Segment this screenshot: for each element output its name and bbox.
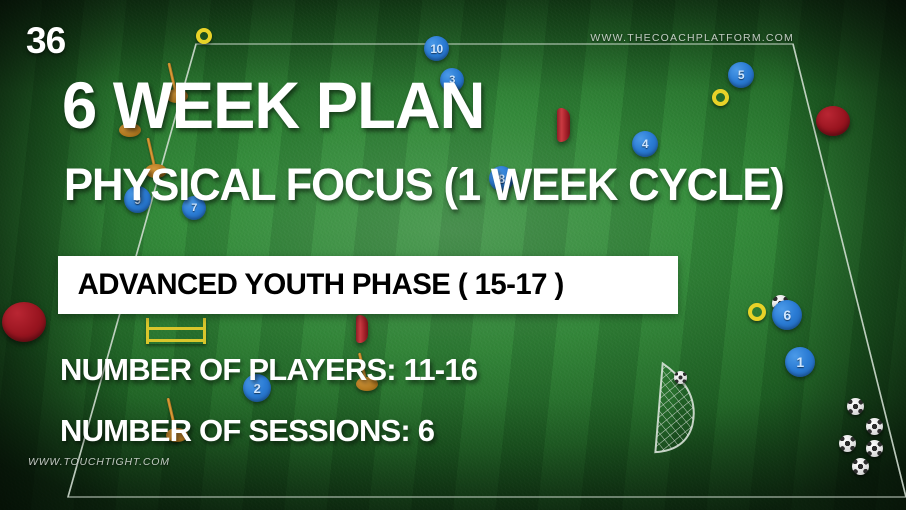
soccer-ball [839,435,856,452]
training-mannequin [557,108,570,142]
player-marker-number: 10 [430,42,442,56]
slide-subheadline: PHYSICAL FOCUS (1 WEEK CYCLE) [64,162,784,207]
player-marker-disc: 5 [728,62,754,88]
number-of-sessions-line: NUMBER OF SESSIONS: 6 [60,413,434,449]
number-of-players-line: NUMBER OF PLAYERS: 11-16 [60,352,477,388]
flat-ring-marker [748,303,766,321]
flat-ring-marker [196,28,212,44]
player-marker-disc: 6 [772,300,802,330]
phase-banner-text: ADVANCED YOUTH PHASE ( 15-17 ) [58,268,564,302]
red-marker-disc [2,302,46,342]
player-marker-number: 6 [783,307,790,323]
player-marker-number: 4 [642,137,648,151]
soccer-ball [866,440,883,457]
slide-headline: 6 WEEK PLAN [62,72,484,138]
player-marker-number: 5 [738,68,744,82]
red-marker-disc [816,106,850,136]
soccer-ball [847,398,864,415]
soccer-ball [852,458,869,475]
player-marker-disc: 10 [424,36,449,61]
player-marker-disc: 1 [785,347,815,377]
agility-ladder [146,318,206,344]
player-marker-disc: 4 [632,131,658,157]
training-mannequin [356,315,368,343]
watermark-coach-platform: WWW.THECOACHPLATFORM.COM [590,32,794,44]
soccer-ball [866,418,883,435]
soccer-ball [674,371,687,384]
player-marker-number: 1 [796,354,803,370]
presentation-slide: 10354897612 36 WWW.THECOACHPLATFORM.COM … [0,0,906,510]
slide-number: 36 [26,20,65,62]
flat-ring-marker [712,89,729,106]
phase-banner: ADVANCED YOUTH PHASE ( 15-17 ) [58,256,678,314]
watermark-touchtight: WWW.TOUCHTIGHT.COM [28,456,170,468]
